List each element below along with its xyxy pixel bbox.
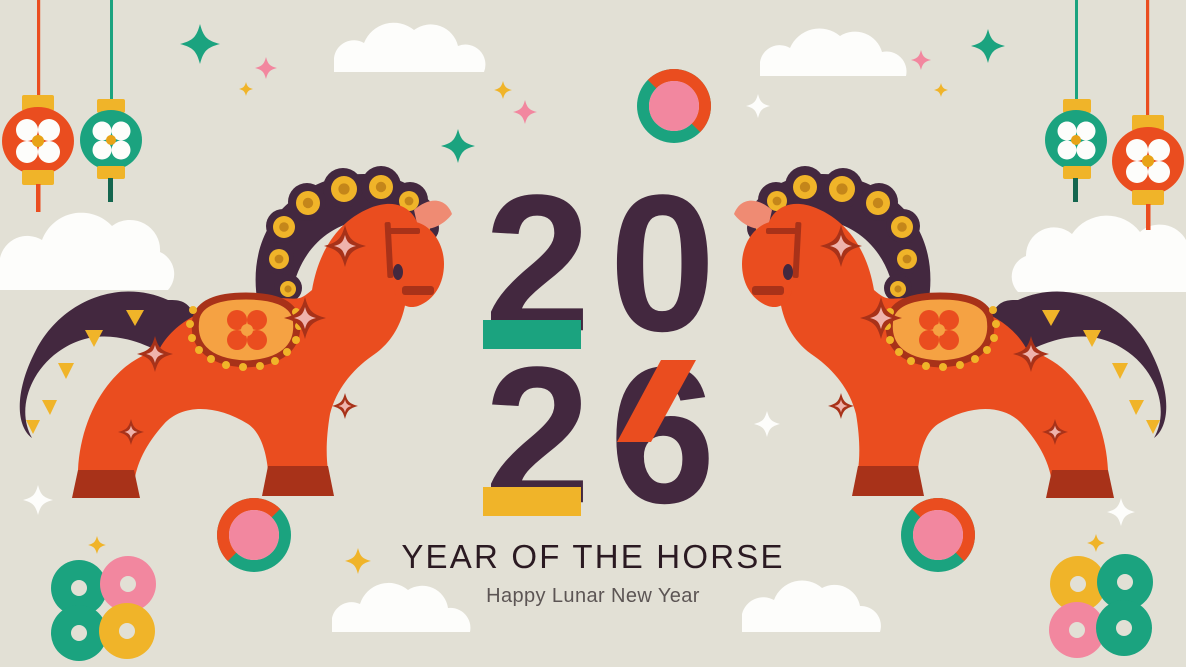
- year-accent-bar-yellow: [483, 487, 581, 516]
- year-digit-0: 0: [595, 178, 720, 350]
- page-subtitle: Happy Lunar New Year: [0, 585, 1186, 608]
- lunar-new-year-poster: 2 0 2 6 YEAR OF THE HORSE Happy Lunar Ne…: [0, 0, 1186, 667]
- horse-left-eye: [393, 264, 403, 280]
- year-digit-6: 6: [595, 350, 720, 522]
- page-title: YEAR OF THE HORSE: [0, 538, 1186, 576]
- year-accent-bar-teal: [483, 320, 581, 349]
- horse-right-eye: [783, 264, 793, 280]
